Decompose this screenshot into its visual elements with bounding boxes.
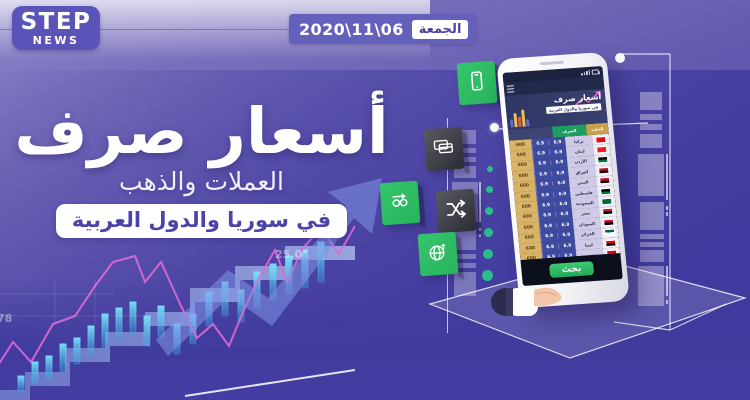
date-badge: 2020\11\06 الجمعة	[289, 14, 476, 44]
country-flag-icon	[599, 177, 611, 185]
headline-block: أسعار صرف العملات والذهب في سوريا والدول…	[14, 100, 389, 238]
accent-dot	[487, 166, 493, 172]
country-flag-icon	[604, 229, 616, 237]
date-value: 2020\11\06	[299, 20, 404, 39]
battery-icon	[592, 69, 599, 74]
country-flag-icon	[600, 187, 612, 195]
currency-exchange-icon	[388, 189, 412, 216]
news-banner: 78 25.01	[0, 0, 750, 400]
country-flag-icon	[597, 156, 609, 164]
phone-speaker-notch	[540, 61, 564, 66]
logo-secondary-text: NEWS	[33, 35, 80, 46]
logo-primary-text: STEP	[21, 11, 92, 34]
chart-label-left: 78	[0, 312, 12, 325]
pointing-hand-graphic	[490, 268, 580, 328]
country-flag-icon	[598, 167, 610, 175]
headline-title: أسعار صرف	[14, 100, 389, 164]
app-banner-subtitle: في سوريا والدول العربية	[546, 103, 602, 114]
app-banner: أسعار صرف في سوريا والدول العربية	[505, 89, 608, 130]
shuffle-exchange-icon-tile[interactable]	[436, 189, 477, 234]
country-flag-icon	[605, 239, 617, 247]
country-flag-icon	[603, 218, 615, 226]
country-flag-icon	[602, 208, 614, 216]
connector-node-dot	[490, 123, 499, 132]
step-news-logo[interactable]: STEP NEWS	[12, 6, 100, 50]
accent-dot	[485, 207, 493, 215]
accent-dot	[486, 186, 493, 193]
globe-dollar-icon-tile[interactable]	[418, 232, 459, 277]
headline-pill: في سوريا والدول العربية	[56, 204, 347, 238]
globe-dollar-icon	[426, 240, 450, 267]
signal-bars-icon	[581, 69, 590, 75]
shuffle-exchange-icon	[444, 197, 468, 224]
phone-screen: أسعار صرف في سوريا والدول العربية الذهب …	[502, 66, 622, 286]
city-skyline-graphic	[509, 109, 530, 127]
hamburger-menu-icon[interactable]	[507, 85, 515, 93]
credit-cards-icon	[432, 135, 456, 162]
credit-cards-icon-tile[interactable]	[424, 127, 465, 172]
mobile-phone-icon	[465, 69, 489, 96]
weekday-value: الجمعة	[412, 20, 469, 39]
currency-table[interactable]: 6006.9|6.9تركيا6006.9|6.9لبنان6006.9|6.9…	[509, 134, 620, 260]
country-flag-icon	[596, 146, 608, 154]
mobile-phone-icon-tile[interactable]	[457, 61, 498, 106]
country-flag-icon	[595, 136, 607, 144]
country-flag-icon	[601, 198, 613, 206]
headline-subtitle: العملات والذهب	[14, 168, 389, 196]
